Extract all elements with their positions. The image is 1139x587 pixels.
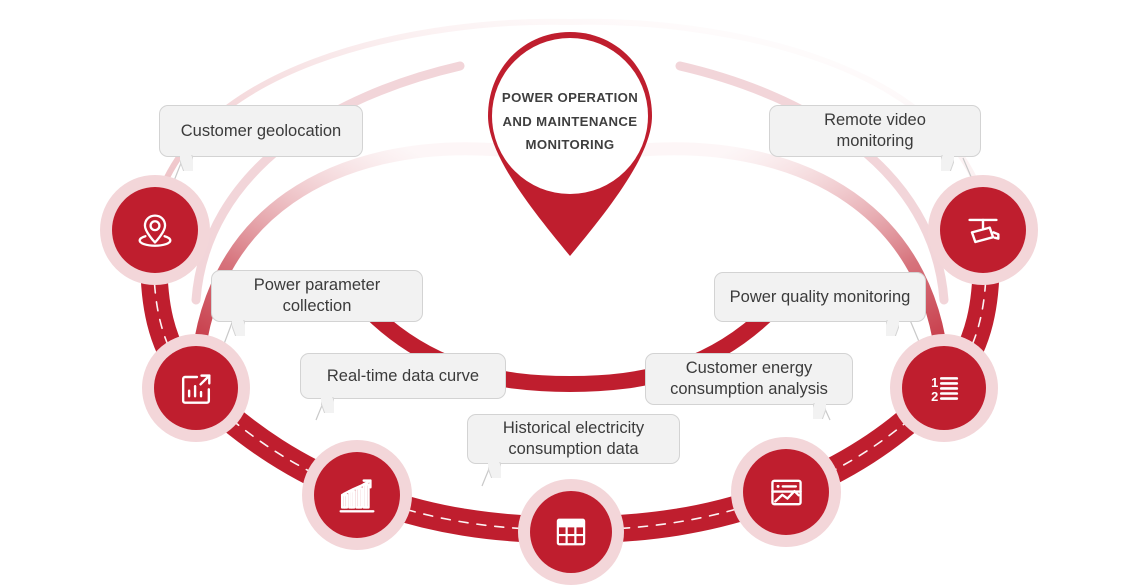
- label-tail: [321, 397, 334, 414]
- node-disc: 1 2: [902, 346, 986, 430]
- label-remote-video-monitoring[interactable]: Remote video monitoring: [769, 105, 981, 157]
- label-customer-geolocation[interactable]: Customer geolocation: [159, 105, 363, 157]
- label-tail: [941, 155, 954, 172]
- label-tail: [886, 320, 899, 337]
- label-real-time-data-curve[interactable]: Real-time data curve: [300, 353, 506, 399]
- location-pin-icon: [132, 207, 178, 253]
- node-customer-geolocation[interactable]: [100, 175, 210, 285]
- pin-title: POWER OPERATION AND MAINTENANCE MONITORI…: [498, 86, 642, 157]
- label-text: Power parameter collection: [254, 275, 381, 316]
- label-text: Real-time data curve: [327, 366, 479, 387]
- label-text: Customer geolocation: [181, 121, 342, 142]
- label-customer-energy-consumption-analysis[interactable]: Customer energy consumption analysis: [645, 353, 853, 405]
- table-grid-icon: [550, 511, 592, 553]
- window-chart-icon: [764, 470, 809, 515]
- numbered-list-icon: 1 2: [922, 366, 966, 410]
- svg-text:1: 1: [931, 375, 938, 390]
- label-text: Customer energy consumption analysis: [670, 358, 828, 399]
- label-text: Remote video monitoring: [784, 110, 966, 151]
- node-disc: [743, 449, 829, 535]
- node-disc: [314, 452, 400, 538]
- label-tail: [180, 155, 193, 172]
- label-text: Historical electricity consumption data: [503, 418, 644, 459]
- svg-text:2: 2: [931, 389, 938, 404]
- node-disc: [530, 491, 612, 573]
- cctv-camera-icon: [960, 207, 1006, 253]
- center-pin-power-operation-monitoring: POWER OPERATION AND MAINTENANCE MONITORI…: [484, 28, 656, 260]
- node-historical-electricity-consumption-data[interactable]: [518, 479, 624, 585]
- label-historical-electricity-consumption-data[interactable]: Historical electricity consumption data: [467, 414, 680, 464]
- growth-chart-icon: [334, 472, 380, 518]
- node-remote-video-monitoring[interactable]: [928, 175, 1038, 285]
- node-power-parameter-collection[interactable]: [142, 334, 250, 442]
- bar-chart-export-icon: [174, 366, 218, 410]
- node-disc: [112, 187, 198, 273]
- node-disc: [154, 346, 238, 430]
- label-power-quality-monitoring[interactable]: Power quality monitoring: [714, 272, 926, 322]
- node-real-time-data-curve[interactable]: [302, 440, 412, 550]
- label-text: Power quality monitoring: [730, 287, 911, 308]
- label-tail: [232, 320, 245, 337]
- label-tail: [488, 462, 501, 479]
- label-power-parameter-collection[interactable]: Power parameter collection: [211, 270, 423, 322]
- diagram-canvas: 1 2: [0, 0, 1139, 587]
- label-tail: [813, 403, 826, 420]
- node-customer-energy-consumption-analysis[interactable]: [731, 437, 841, 547]
- node-power-quality-monitoring[interactable]: 1 2: [890, 334, 998, 442]
- node-disc: [940, 187, 1026, 273]
